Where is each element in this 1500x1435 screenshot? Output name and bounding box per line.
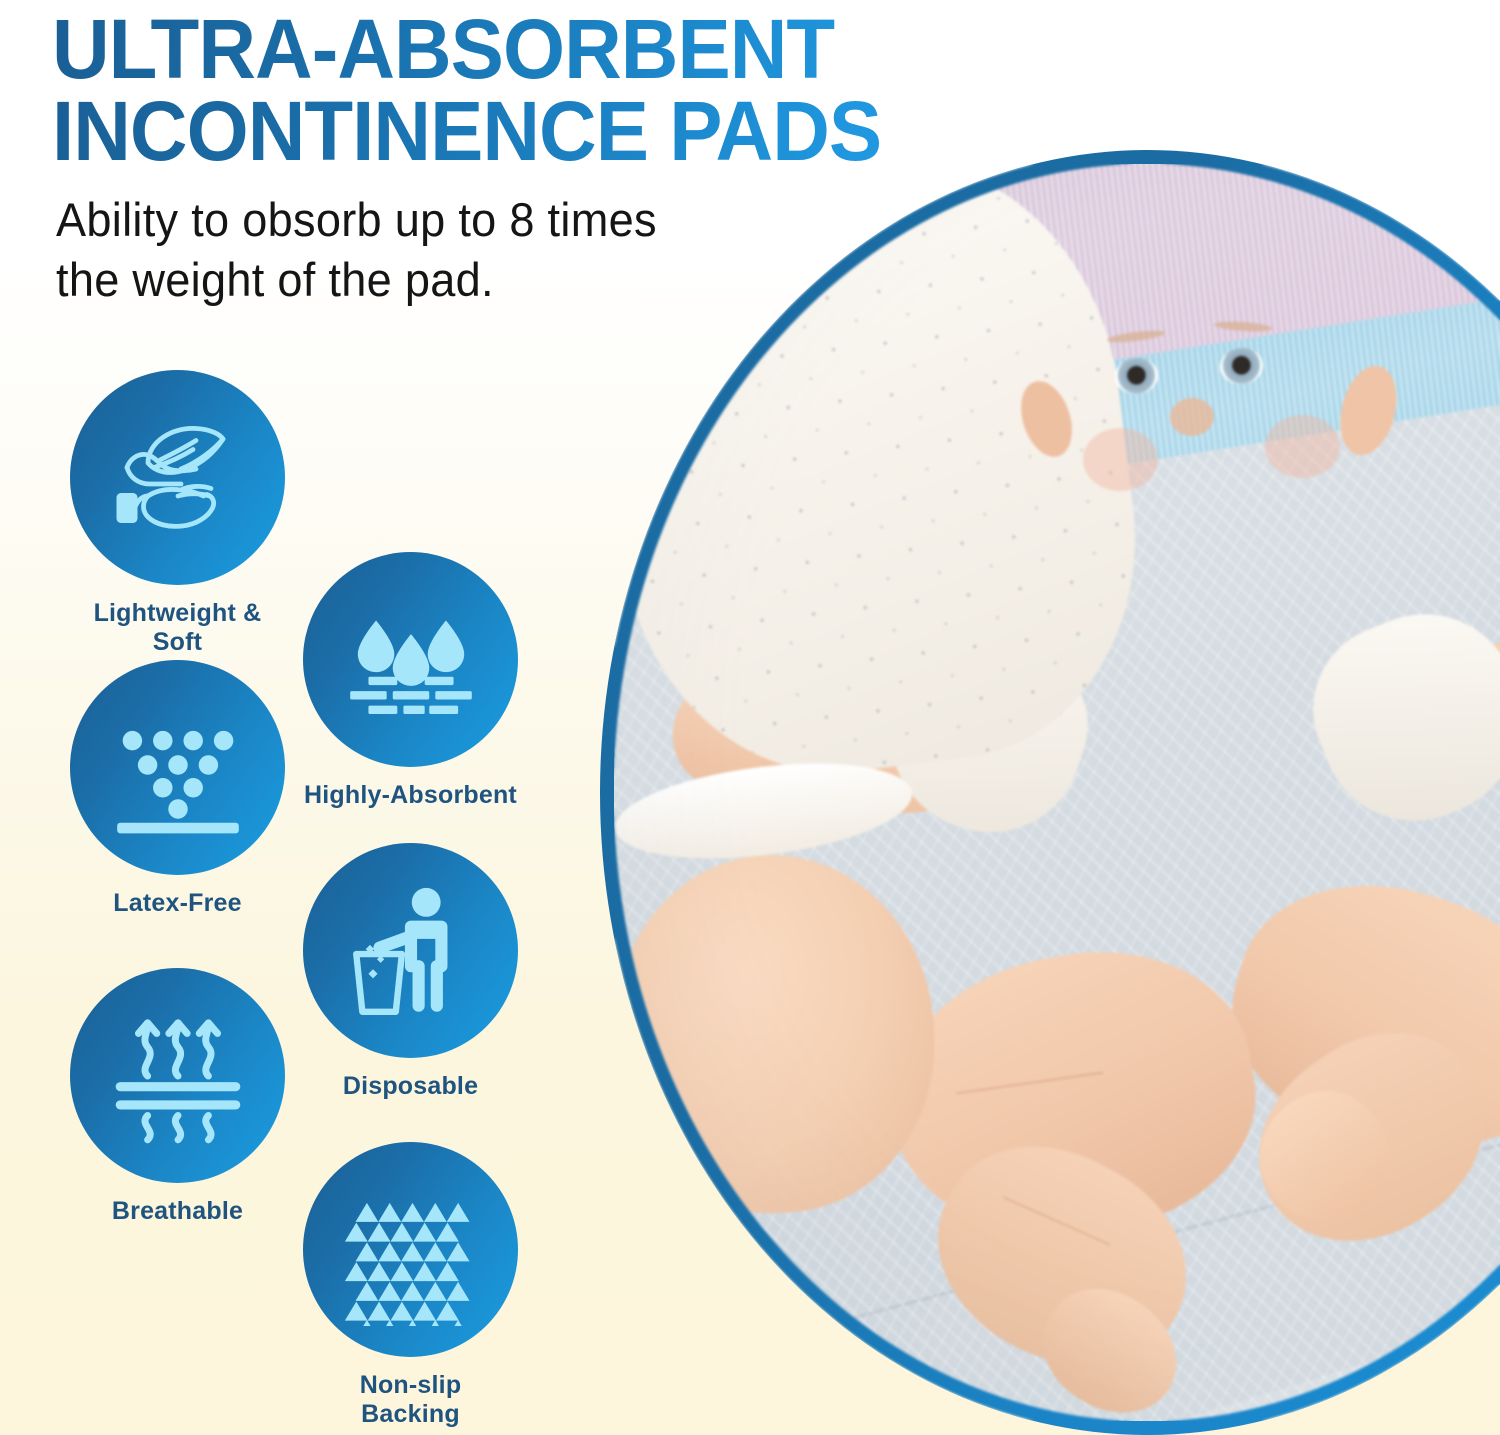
feature-disposable: Disposable bbox=[303, 843, 518, 1101]
baby-right-cheek bbox=[1265, 415, 1340, 478]
feature-label: Lightweight & Soft bbox=[70, 599, 285, 657]
baby-right-ear bbox=[1332, 360, 1406, 461]
product-photo-ring bbox=[600, 150, 1500, 1435]
feature-label: Breathable bbox=[70, 1197, 285, 1226]
baby-mouth bbox=[614, 1230, 682, 1278]
feature-highly-absorbent: Highly-Absorbent bbox=[303, 552, 518, 810]
onesie-right-sleeve bbox=[1288, 586, 1500, 848]
baby-left-nostril bbox=[614, 1214, 626, 1224]
airflow-arrows-layers-icon bbox=[70, 968, 285, 1183]
feature-label: Disposable bbox=[303, 1072, 518, 1101]
product-photo bbox=[614, 164, 1500, 1421]
baby-right-eye bbox=[1219, 346, 1265, 386]
feature-lightweight-soft: Lightweight & Soft bbox=[70, 370, 285, 657]
dots-triangle-surface-icon bbox=[70, 660, 285, 875]
feature-non-slip-backing: Non-slip Backing bbox=[303, 1142, 518, 1429]
baby-nose bbox=[1169, 396, 1215, 437]
baby-right-eyebrow bbox=[1213, 320, 1271, 333]
feature-latex-free: Latex-Free bbox=[70, 660, 285, 918]
baby-left-cheek bbox=[1083, 428, 1158, 491]
page-title: ULTRA-ABSORBENT INCONTINENCE PADS bbox=[52, 8, 1107, 173]
triangle-grip-grid-icon bbox=[303, 1142, 518, 1357]
baby-left-eye bbox=[1114, 356, 1160, 396]
person-trash-bin-icon bbox=[303, 843, 518, 1058]
feature-label: Highly-Absorbent bbox=[303, 781, 518, 810]
feature-label: Latex-Free bbox=[70, 889, 285, 918]
feature-breathable: Breathable bbox=[70, 968, 285, 1226]
product-infographic: ULTRA-ABSORBENT INCONTINENCE PADS Abilit… bbox=[0, 0, 1500, 1435]
baby-left-eyebrow bbox=[1107, 329, 1165, 345]
baby-head bbox=[614, 845, 946, 1225]
baby-right-nostril bbox=[614, 1224, 626, 1234]
water-droplets-layers-icon bbox=[303, 552, 518, 767]
baby-subject bbox=[614, 164, 1500, 1421]
hand-holding-feather-icon bbox=[70, 370, 285, 585]
feature-label: Non-slip Backing bbox=[303, 1371, 518, 1429]
